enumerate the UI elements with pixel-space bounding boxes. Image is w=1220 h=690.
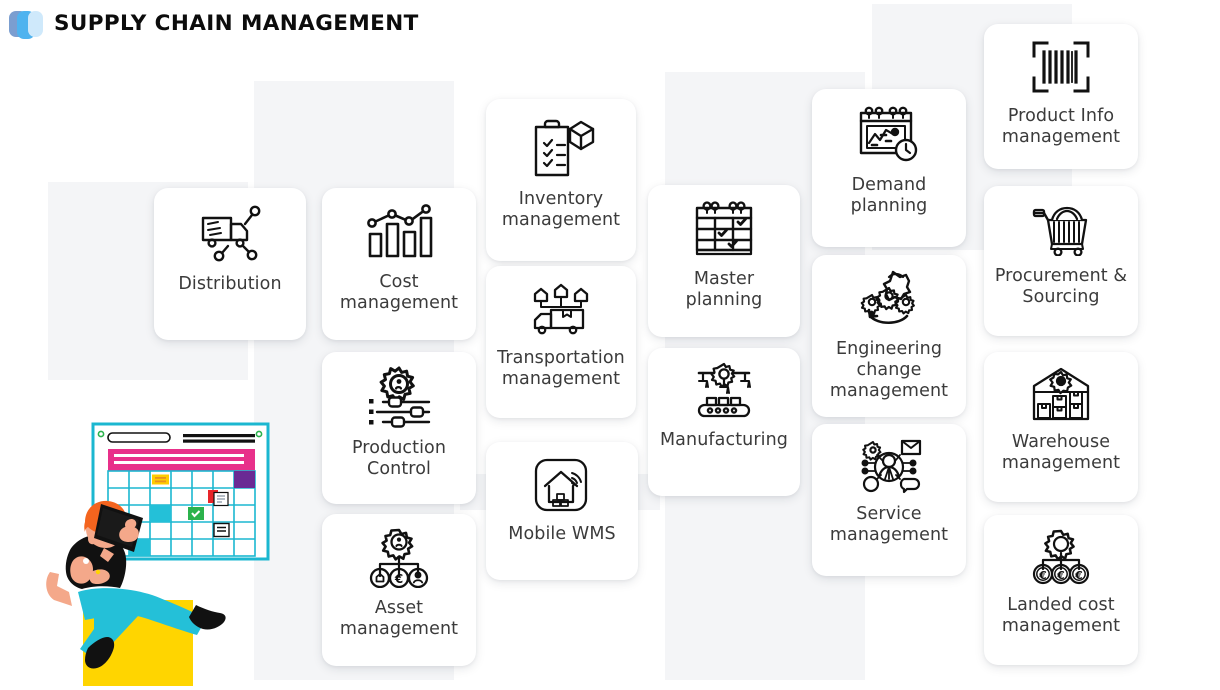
- robot-conveyor-icon: [689, 362, 759, 420]
- card-inventory-management[interactable]: Inventorymanagement: [486, 99, 636, 261]
- card-asset-management[interactable]: € Assetmanagement: [322, 514, 476, 666]
- gears-hand-wrench-icon: [853, 269, 925, 329]
- truck-delivery-points-icon: [525, 280, 597, 338]
- card-label: Distribution: [172, 274, 287, 295]
- gear-euro-coins-icon: € € €: [1028, 529, 1094, 585]
- card-label: ProductionControl: [346, 438, 452, 480]
- card-distribution[interactable]: Distribution: [154, 188, 306, 340]
- card-label: Costmanagement: [334, 272, 464, 314]
- delivery-truck-network-icon: [195, 202, 265, 264]
- svg-text:€: €: [1038, 569, 1047, 582]
- warehouse-wifi-icon: [531, 456, 593, 514]
- svg-text:€: €: [1074, 569, 1083, 582]
- card-label: Procurement &Sourcing: [989, 266, 1133, 308]
- card-label: Inventorymanagement: [496, 189, 626, 231]
- card-label: Product Infomanagement: [996, 106, 1126, 148]
- card-warehouse-management[interactable]: Warehousemanagement: [984, 352, 1138, 502]
- card-label: Landed costmanagement: [996, 595, 1126, 637]
- gear-sliders-icon: [363, 366, 435, 428]
- shopping-cart-icon: [1028, 200, 1094, 256]
- card-mobile-wms[interactable]: Mobile WMS: [486, 442, 638, 580]
- card-demand-planning[interactable]: Demandplanning: [812, 89, 966, 247]
- calendar-chart-clock-icon: [855, 103, 923, 165]
- svg-text:€: €: [394, 572, 403, 586]
- card-label: Assetmanagement: [334, 598, 464, 640]
- card-label: Engineeringchangemanagement: [824, 339, 954, 402]
- card-manufacturing[interactable]: Manufacturing: [648, 348, 800, 496]
- card-label: Transportationmanagement: [491, 348, 631, 390]
- svg-text:€: €: [1056, 569, 1065, 582]
- barcode-scan-icon: [1030, 38, 1092, 96]
- card-product-info-management[interactable]: Product Infomanagement: [984, 24, 1138, 169]
- supply-chain-logo-icon: [8, 7, 50, 43]
- card-cost-management[interactable]: Costmanagement: [322, 188, 476, 340]
- card-production-control[interactable]: ProductionControl: [322, 352, 476, 504]
- card-service-management[interactable]: Servicemanagement: [812, 424, 966, 576]
- clipboard-box-icon: [526, 113, 596, 179]
- card-label: Demandplanning: [845, 175, 934, 217]
- gear-person-assets-icon: €: [365, 528, 433, 588]
- service-person-network-icon: [855, 438, 923, 494]
- warehouse-gear-icon: [1028, 366, 1094, 422]
- card-master-planning[interactable]: Masterplanning: [648, 185, 800, 337]
- card-label: Manufacturing: [654, 430, 794, 451]
- card-label: Servicemanagement: [824, 504, 954, 546]
- calendar-checks-icon: [691, 199, 757, 259]
- card-landed-cost-management[interactable]: € € € Landed costmanagement: [984, 515, 1138, 665]
- person-with-tablet-and-planner-illustration: [28, 420, 290, 686]
- infographic-canvas: SUPPLY CHAIN MANAGEMENT Distribution: [0, 0, 1220, 686]
- card-transportation-management[interactable]: Transportationmanagement: [486, 266, 636, 418]
- bar-chart-trend-icon: [364, 202, 434, 262]
- card-label: Mobile WMS: [502, 524, 621, 545]
- card-procurement-sourcing[interactable]: Procurement &Sourcing: [984, 186, 1138, 336]
- card-label: Warehousemanagement: [996, 432, 1126, 474]
- card-label: Masterplanning: [680, 269, 769, 311]
- page-title: SUPPLY CHAIN MANAGEMENT: [54, 11, 419, 36]
- card-engineering-change-management[interactable]: Engineeringchangemanagement: [812, 255, 966, 417]
